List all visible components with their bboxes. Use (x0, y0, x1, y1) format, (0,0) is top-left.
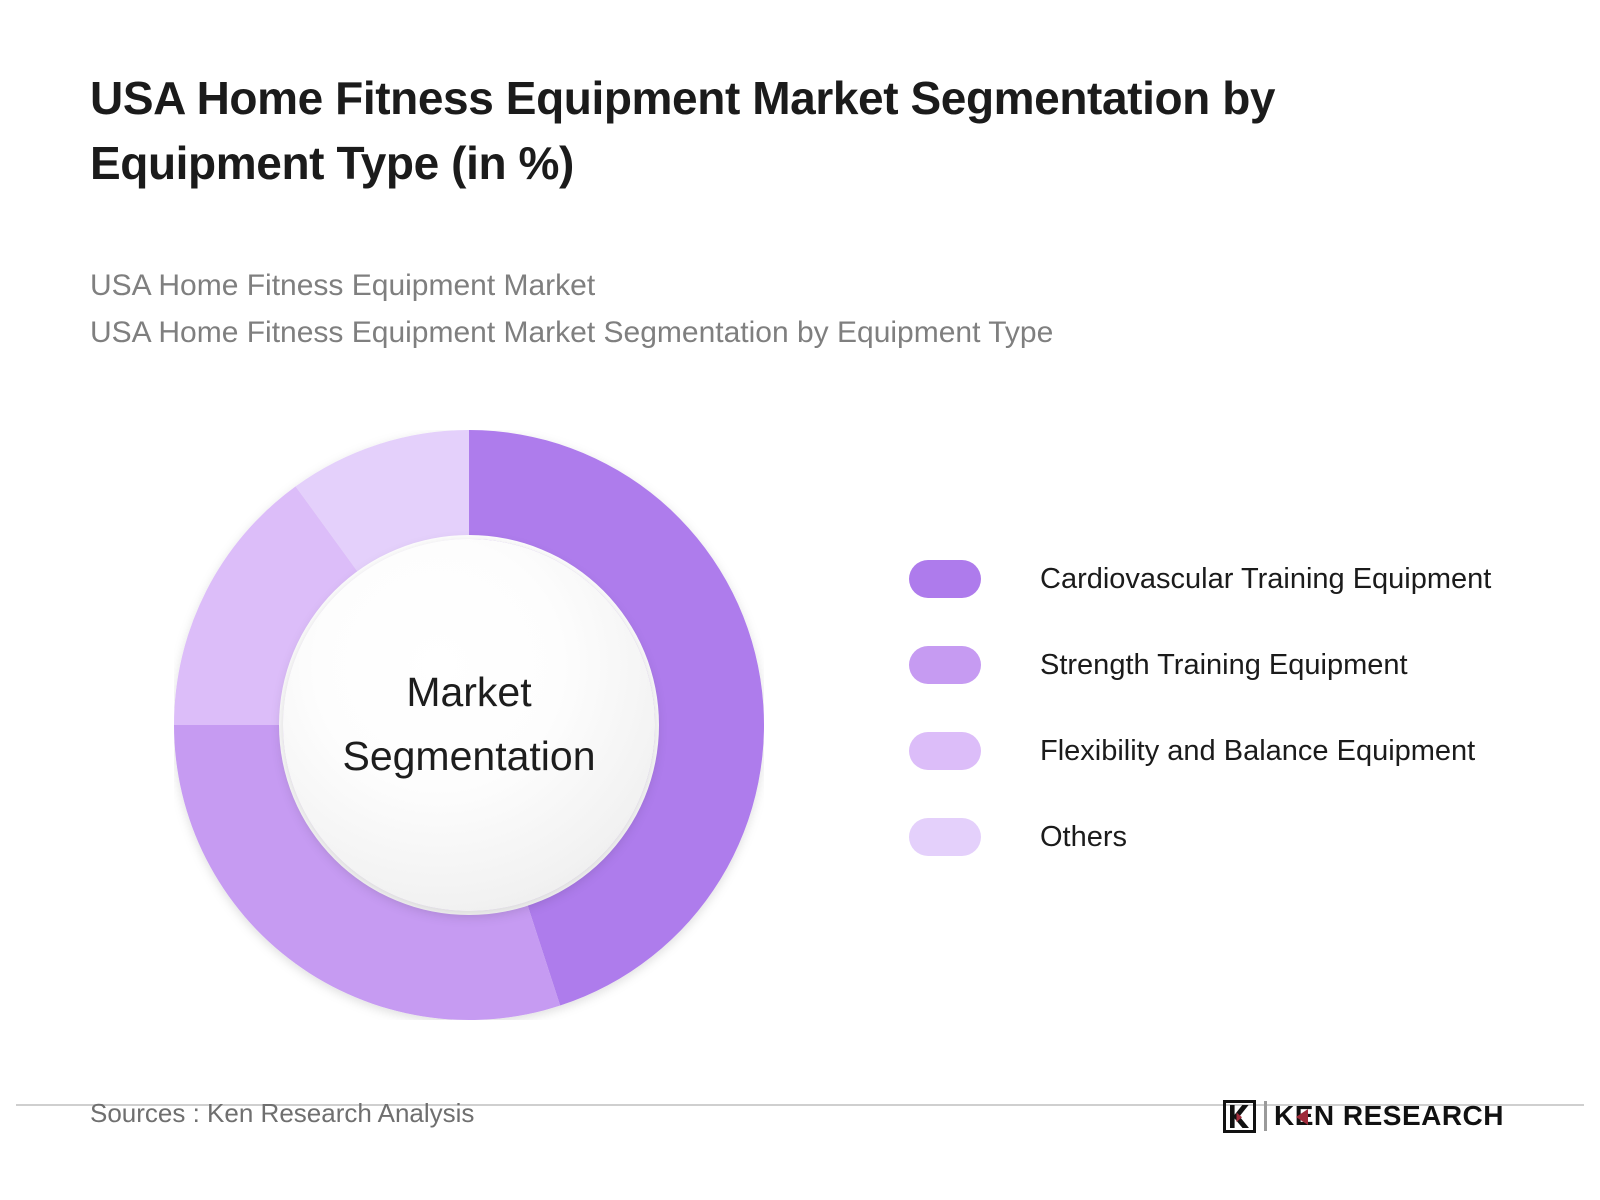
legend-swatch-icon-1 (909, 646, 981, 684)
donut-center-hub: Market Segmentation (283, 539, 655, 911)
breadcrumb: USA Home Fitness Equipment Market USA Ho… (90, 262, 1440, 357)
slide-root: USA Home Fitness Equipment Market Segmen… (0, 0, 1600, 1200)
logo-wordmark-text: KEN RESEARCH (1274, 1100, 1504, 1132)
subtitle-line-1: USA Home Fitness Equipment Market (90, 262, 1440, 309)
legend-swatch-icon-0 (909, 560, 981, 598)
legend-item-label: Flexibility and Balance Equipment (1040, 735, 1475, 768)
chart-legend: Cardiovascular Training Equipment Streng… (909, 536, 1559, 880)
logo-accent-triangle-icon (1296, 1109, 1308, 1125)
donut-chart: Market Segmentation (174, 430, 764, 1020)
subtitle-line-2: USA Home Fitness Equipment Market Segmen… (90, 309, 1440, 356)
donut-center-label: Market Segmentation (324, 661, 613, 788)
logo-wordmark: KEN RESEARCH (1274, 1100, 1504, 1132)
logo-divider (1264, 1101, 1267, 1131)
center-label-line-1: Market (406, 669, 531, 715)
legend-item-strength[interactable]: Strength Training Equipment (909, 622, 1559, 708)
legend-item-label: Strength Training Equipment (1040, 649, 1408, 682)
logo-k-mark-icon (1223, 1100, 1256, 1133)
ken-research-logo: KEN RESEARCH (1223, 1096, 1504, 1136)
center-label-line-2: Segmentation (342, 733, 595, 779)
legend-item-cardiovascular[interactable]: Cardiovascular Training Equipment (909, 536, 1559, 622)
legend-item-flexibility[interactable]: Flexibility and Balance Equipment (909, 708, 1559, 794)
donut-ring: Market Segmentation (174, 430, 764, 1020)
legend-item-label: Others (1040, 821, 1127, 854)
legend-item-label: Cardiovascular Training Equipment (1040, 563, 1491, 596)
legend-item-others[interactable]: Others (909, 794, 1559, 880)
page-title: USA Home Fitness Equipment Market Segmen… (90, 66, 1490, 197)
legend-swatch-icon-3 (909, 818, 981, 856)
legend-swatch-icon-2 (909, 732, 981, 770)
source-note: Sources : Ken Research Analysis (90, 1098, 474, 1129)
